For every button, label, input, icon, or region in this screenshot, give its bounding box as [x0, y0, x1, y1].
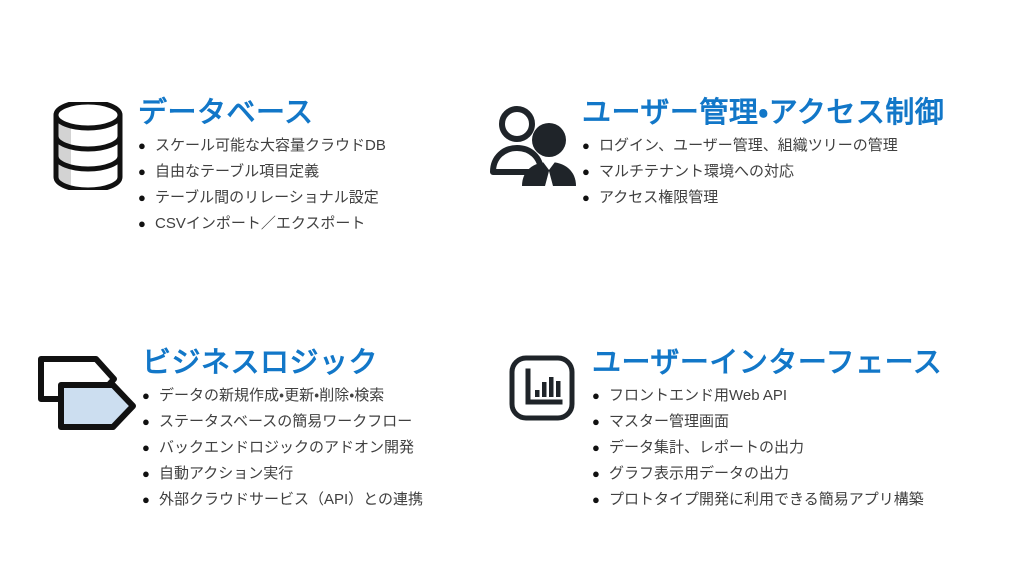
- list-item-label: テーブル間のリレーショナル設定: [155, 189, 379, 206]
- bullet-icon: ●: [592, 435, 600, 461]
- list-item: ●マスター管理画面: [592, 409, 1002, 435]
- database-cylinder-icon: [38, 98, 138, 190]
- list-item-label: スケール可能な大容量クラウドDB: [155, 137, 386, 154]
- list-item-label: データの新規作成・更新・削除・検索: [159, 387, 384, 404]
- slide-canvas: データベース ●スケール可能な大容量クラウドDB ●自由なテーブル項目定義 ●テ…: [0, 0, 1024, 576]
- bullet-icon: ●: [592, 487, 600, 513]
- list-item: ●CSVインポート／エクスポート: [138, 211, 478, 237]
- bullet-icon: ●: [142, 487, 150, 513]
- bullet-icon: ●: [582, 133, 590, 159]
- list-item-label: ステータスベースの簡易ワークフロー: [159, 413, 412, 430]
- list-item: ●ログイン、ユーザー管理、組織ツリーの管理: [582, 133, 1002, 159]
- bullet-icon: ●: [142, 435, 150, 461]
- list-item: ●外部クラウドサービス（API）との連携: [142, 487, 480, 513]
- list-item: ●データの新規作成・更新・削除・検索: [142, 383, 480, 409]
- feature-title-user-management: ユーザー管理・アクセス制御: [582, 98, 1002, 129]
- list-item-label: 自動アクション実行: [159, 465, 293, 482]
- bullet-icon: ●: [138, 185, 146, 211]
- feature-bullets-database: ●スケール可能な大容量クラウドDB ●自由なテーブル項目定義 ●テーブル間のリレ…: [138, 133, 478, 237]
- feature-block-user-management: ユーザー管理・アクセス制御 ●ログイン、ユーザー管理、組織ツリーの管理 ●マルチ…: [482, 98, 1002, 211]
- list-item: ●マルチテナント環境への対応: [582, 159, 1002, 185]
- list-item: ●自動アクション実行: [142, 461, 480, 487]
- list-item: ●プロトタイプ開発に利用できる簡易アプリ構築: [592, 487, 1002, 513]
- bullet-icon: ●: [582, 185, 590, 211]
- feature-title-database: データベース: [138, 98, 478, 129]
- bullet-icon: ●: [592, 383, 600, 409]
- database-text-block: データベース ●スケール可能な大容量クラウドDB ●自由なテーブル項目定義 ●テ…: [138, 98, 478, 237]
- feature-block-business-logic: ビジネスロジック ●データの新規作成・更新・削除・検索 ●ステータスベースの簡易…: [30, 348, 480, 513]
- list-item: ●テーブル間のリレーショナル設定: [138, 185, 478, 211]
- bullet-icon: ●: [138, 211, 146, 237]
- list-item-label: 自由なテーブル項目定義: [155, 163, 319, 180]
- list-item-label: マルチテナント環境への対応: [599, 163, 794, 180]
- feature-block-database: データベース ●スケール可能な大容量クラウドDB ●自由なテーブル項目定義 ●テ…: [38, 98, 478, 237]
- process-arrows-icon: [30, 348, 142, 434]
- list-item-label: バックエンドロジックのアドオン開発: [159, 439, 414, 456]
- list-item: ●スケール可能な大容量クラウドDB: [138, 133, 478, 159]
- list-item: ●自由なテーブル項目定義: [138, 159, 478, 185]
- list-item-label: プロトタイプ開発に利用できる簡易アプリ構築: [609, 491, 924, 508]
- list-item: ●アクセス権限管理: [582, 185, 1002, 211]
- users-people-icon: [482, 98, 582, 186]
- bullet-icon: ●: [582, 159, 590, 185]
- bullet-icon: ●: [138, 159, 146, 185]
- feature-block-user-interface: ユーザーインターフェース ●フロントエンド用Web API ●マスター管理画面 …: [492, 348, 1002, 513]
- bullet-icon: ●: [592, 409, 600, 435]
- feature-title-business-logic: ビジネスロジック: [142, 348, 480, 379]
- list-item-label: マスター管理画面: [609, 413, 729, 430]
- list-item: ●データ集計、レポートの出力: [592, 435, 1002, 461]
- list-item-label: フロントエンド用Web API: [609, 387, 787, 404]
- user-management-text-block: ユーザー管理・アクセス制御 ●ログイン、ユーザー管理、組織ツリーの管理 ●マルチ…: [582, 98, 1002, 211]
- feature-bullets-user-management: ●ログイン、ユーザー管理、組織ツリーの管理 ●マルチテナント環境への対応 ●アク…: [582, 133, 1002, 211]
- list-item: ●バックエンドロジックのアドオン開発: [142, 435, 480, 461]
- feature-bullets-user-interface: ●フロントエンド用Web API ●マスター管理画面 ●データ集計、レポートの出…: [592, 383, 1002, 513]
- user-interface-text-block: ユーザーインターフェース ●フロントエンド用Web API ●マスター管理画面 …: [592, 348, 1002, 513]
- bullet-icon: ●: [142, 409, 150, 435]
- list-item-label: アクセス権限管理: [599, 189, 718, 206]
- list-item-label: データ集計、レポートの出力: [609, 439, 804, 456]
- feature-bullets-business-logic: ●データの新規作成・更新・削除・検索 ●ステータスベースの簡易ワークフロー ●バ…: [142, 383, 480, 513]
- list-item-label: 外部クラウドサービス（API）との連携: [159, 491, 423, 508]
- list-item-label: CSVインポート／エクスポート: [155, 215, 365, 232]
- bullet-icon: ●: [142, 461, 150, 487]
- list-item-label: ログイン、ユーザー管理、組織ツリーの管理: [599, 137, 898, 154]
- list-item: ●グラフ表示用データの出力: [592, 461, 1002, 487]
- business-logic-text-block: ビジネスロジック ●データの新規作成・更新・削除・検索 ●ステータスベースの簡易…: [142, 348, 480, 513]
- bullet-icon: ●: [142, 383, 150, 409]
- bullet-icon: ●: [592, 461, 600, 487]
- list-item: ●フロントエンド用Web API: [592, 383, 1002, 409]
- bullet-icon: ●: [138, 133, 146, 159]
- list-item-label: グラフ表示用データの出力: [609, 465, 789, 482]
- feature-title-user-interface: ユーザーインターフェース: [592, 348, 1002, 379]
- bar-chart-app-icon: [492, 348, 592, 422]
- list-item: ●ステータスベースの簡易ワークフロー: [142, 409, 480, 435]
